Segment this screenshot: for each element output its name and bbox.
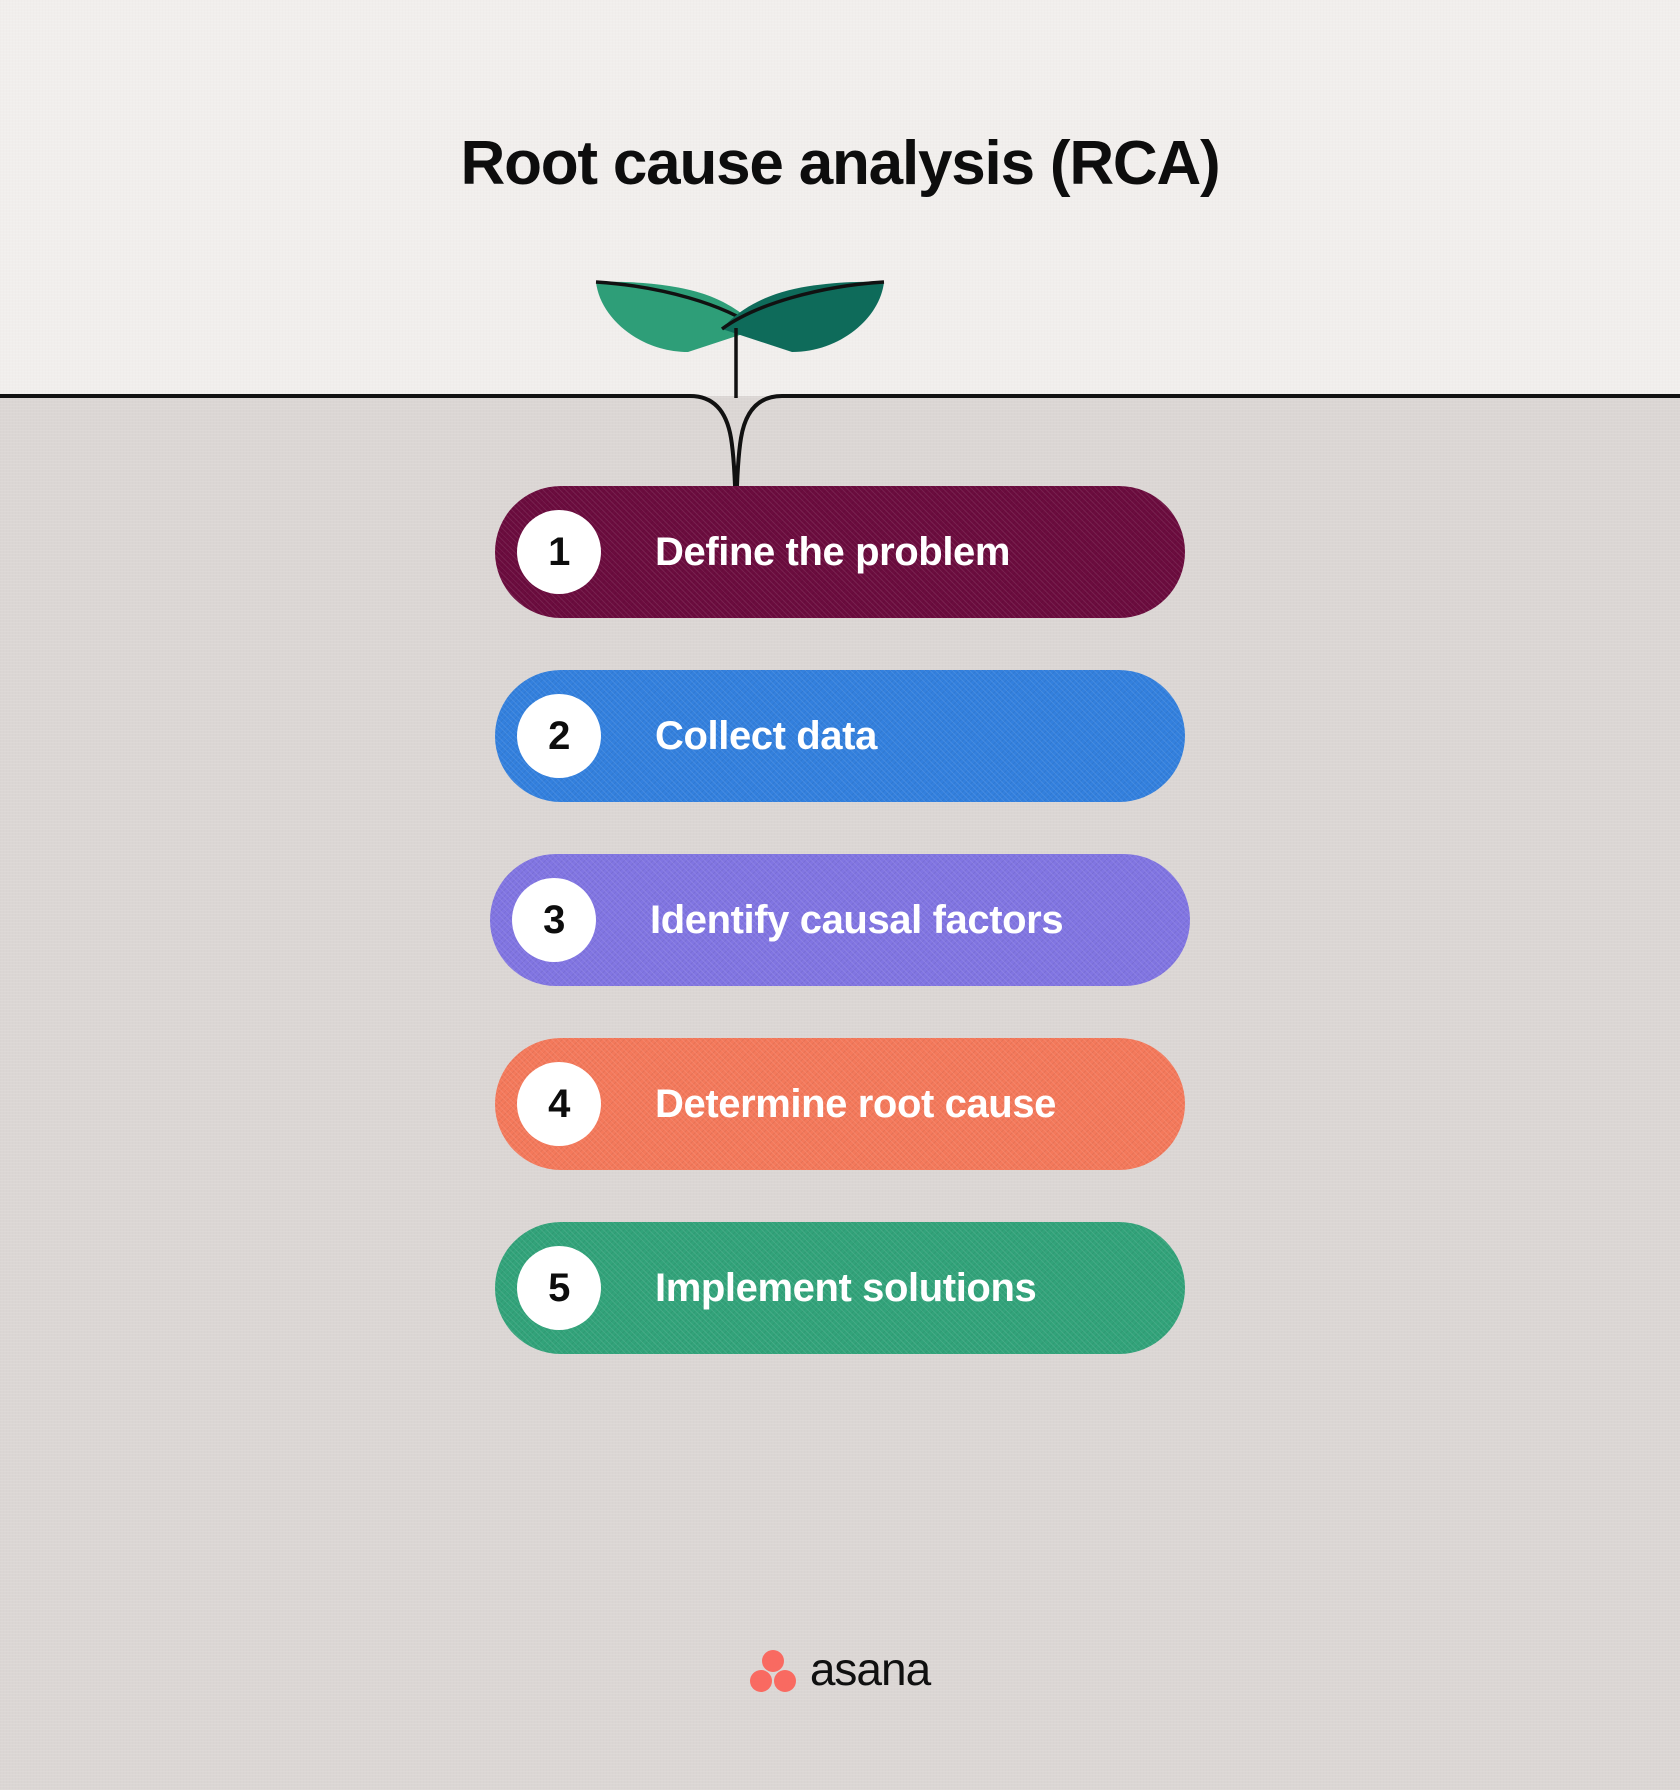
step-item-4[interactable]: 4 Determine root cause bbox=[495, 1038, 1185, 1170]
infographic-canvas: Root cause analysis (RCA) 1 Define the p… bbox=[0, 0, 1680, 1790]
step-number-badge-1: 1 bbox=[517, 510, 601, 594]
asana-logo: asana bbox=[0, 1648, 1680, 1694]
step-item-1[interactable]: 1 Define the problem bbox=[495, 486, 1185, 618]
asana-three-dots-icon bbox=[750, 1650, 796, 1692]
asana-dot-right bbox=[774, 1670, 796, 1692]
step-number-badge-5: 5 bbox=[517, 1246, 601, 1330]
step-item-5[interactable]: 5 Implement solutions bbox=[495, 1222, 1185, 1354]
asana-dot-top bbox=[762, 1650, 784, 1672]
step-number-badge-2: 2 bbox=[517, 694, 601, 778]
step-label-3: Identify causal factors bbox=[650, 898, 1063, 943]
step-label-4: Determine root cause bbox=[655, 1082, 1056, 1127]
step-number-badge-4: 4 bbox=[517, 1062, 601, 1146]
asana-dot-left bbox=[750, 1670, 772, 1692]
step-item-3[interactable]: 3 Identify causal factors bbox=[490, 854, 1190, 986]
step-label-2: Collect data bbox=[655, 714, 877, 759]
step-list: 1 Define the problem 2 Collect data 3 Id… bbox=[0, 486, 1680, 1406]
leaf-right-fill bbox=[722, 282, 884, 352]
step-label-1: Define the problem bbox=[655, 530, 1010, 575]
step-label-5: Implement solutions bbox=[655, 1266, 1036, 1311]
step-item-2[interactable]: 2 Collect data bbox=[495, 670, 1185, 802]
asana-wordmark: asana bbox=[810, 1646, 930, 1692]
step-number-badge-3: 3 bbox=[512, 878, 596, 962]
